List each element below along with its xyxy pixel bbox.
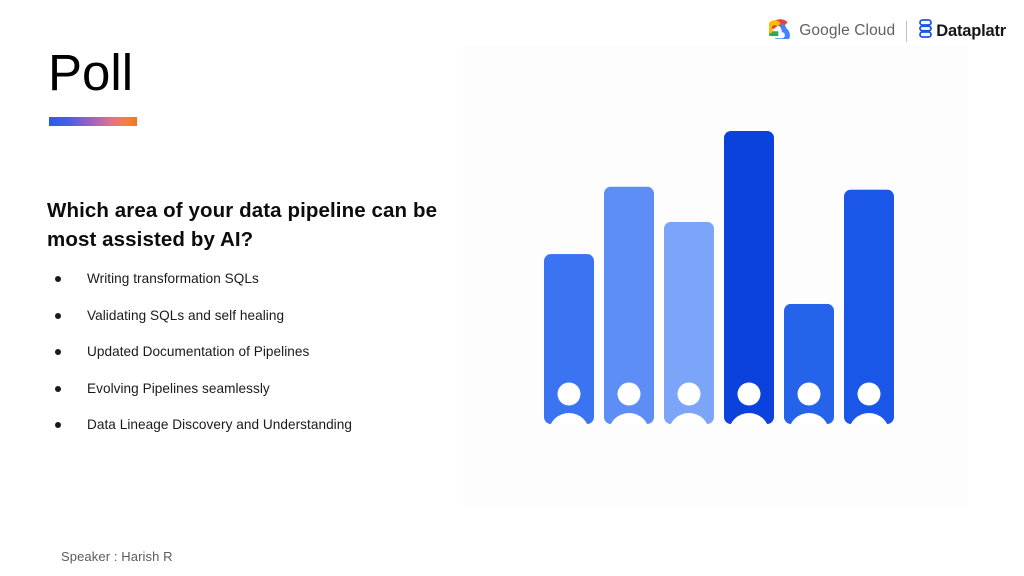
- slide-root: Google Cloud Dataplatr Poll Which area o…: [0, 0, 1024, 576]
- bullet-dot-icon: [55, 349, 61, 355]
- poll-option-label: Validating SQLs and self healing: [87, 307, 284, 324]
- person-head-icon: [678, 383, 701, 406]
- person-head-icon: [858, 383, 881, 406]
- poll-illustration-panel: [463, 46, 968, 508]
- list-item[interactable]: Writing transformation SQLs: [47, 270, 467, 307]
- bullet-dot-icon: [55, 386, 61, 392]
- google-cloud-label: Google Cloud: [799, 22, 895, 40]
- bar-series: [544, 131, 894, 432]
- bar: [664, 222, 714, 432]
- page-title: Poll: [48, 47, 133, 98]
- poll-option-label: Writing transformation SQLs: [87, 270, 259, 287]
- bullet-dot-icon: [55, 276, 61, 282]
- person-head-icon: [798, 383, 821, 406]
- person-head-icon: [558, 383, 581, 406]
- bar-fill: [784, 304, 834, 424]
- poll-option-label: Data Lineage Discovery and Understanding: [87, 416, 352, 433]
- title-accent-underline: [49, 117, 137, 126]
- poll-option-label: Evolving Pipelines seamlessly: [87, 380, 270, 397]
- dataplatr-logo-icon: [918, 19, 933, 43]
- person-head-icon: [618, 383, 641, 406]
- list-item[interactable]: Data Lineage Discovery and Understanding: [47, 416, 467, 453]
- bullet-dot-icon: [55, 313, 61, 319]
- bar: [844, 190, 894, 432]
- poll-bar-chart: [463, 46, 968, 508]
- poll-question: Which area of your data pipeline can be …: [47, 196, 467, 254]
- person-head-icon: [738, 383, 761, 406]
- dataplatr-label: Dataplatr: [936, 22, 1006, 41]
- poll-options-list: Writing transformation SQLs Validating S…: [47, 270, 467, 453]
- brand-bar: Google Cloud Dataplatr: [769, 20, 1006, 42]
- bar: [784, 304, 834, 432]
- bar: [724, 131, 774, 432]
- bar: [604, 187, 654, 432]
- poll-option-label: Updated Documentation of Pipelines: [87, 343, 309, 360]
- list-item[interactable]: Updated Documentation of Pipelines: [47, 343, 467, 380]
- list-item[interactable]: Evolving Pipelines seamlessly: [47, 380, 467, 417]
- list-item[interactable]: Validating SQLs and self healing: [47, 307, 467, 344]
- google-cloud-logo-icon: [769, 19, 792, 44]
- dataplatr-logo: Dataplatr: [918, 19, 1006, 43]
- bar: [544, 254, 594, 432]
- speaker-credit: Speaker : Harish R: [61, 549, 173, 564]
- google-cloud-logo: Google Cloud: [769, 19, 895, 44]
- bar-fill: [724, 131, 774, 424]
- brand-divider: [906, 21, 907, 42]
- bullet-dot-icon: [55, 422, 61, 428]
